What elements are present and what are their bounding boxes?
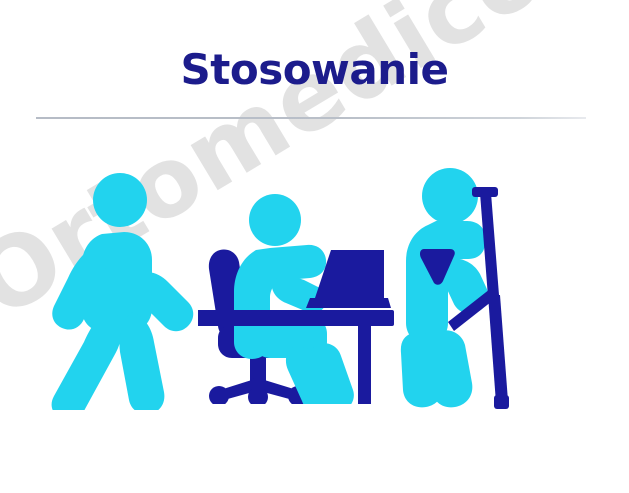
title-divider bbox=[36, 117, 586, 119]
person-with-crutches-icon bbox=[388, 163, 523, 421]
person-at-desk-figure bbox=[198, 192, 398, 404]
slide-canvas: Ortomedico.pl Stosowanie bbox=[0, 0, 629, 493]
crutches-person-body bbox=[401, 168, 488, 407]
person-with-crutches-figure bbox=[388, 163, 523, 421]
title-block: Stosowanie bbox=[0, 0, 629, 96]
walking-person-figure bbox=[32, 160, 207, 410]
person-at-desk-icon bbox=[198, 192, 398, 404]
walking-person-icon bbox=[32, 160, 207, 410]
page-title: Stosowanie bbox=[0, 0, 629, 96]
